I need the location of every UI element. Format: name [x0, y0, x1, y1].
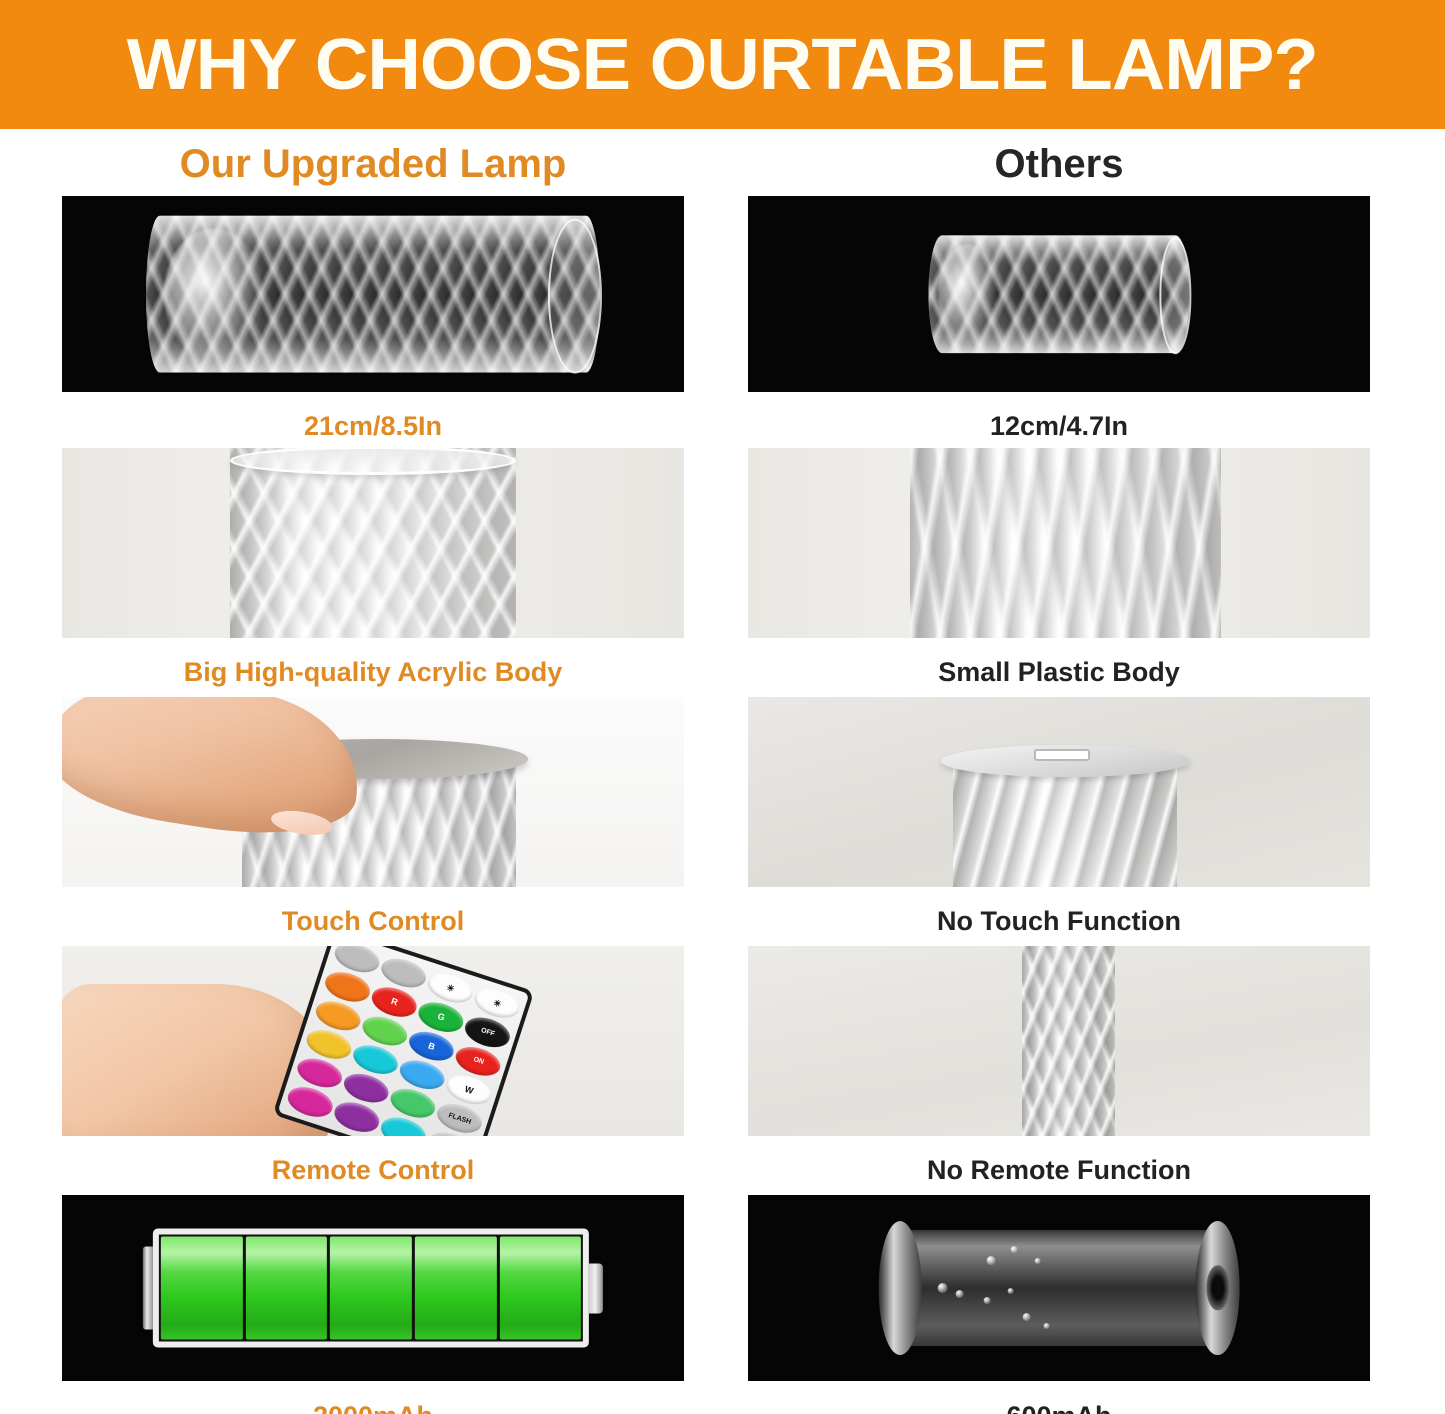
remote-button-red: R — [369, 982, 421, 1021]
image-plastic-body — [748, 448, 1370, 638]
small-battery-icon — [879, 1221, 1240, 1355]
caption-ours-material: Big High-quality Acrylic Body — [62, 638, 684, 686]
caption-others-battery: 600mAh — [748, 1381, 1370, 1414]
caption-ours-battery: 2000mAh — [62, 1381, 684, 1414]
image-full-battery — [62, 1195, 684, 1381]
comparison-grid: 21cm/8.5In 12cm/4.7In Big High-quality A… — [0, 196, 1445, 1414]
caption-ours-touch: Touch Control — [62, 887, 684, 935]
cell-ours-size: 21cm/8.5In — [62, 196, 684, 440]
image-remote-control: ☀ ☀ R G OFF B ON W — [62, 946, 684, 1136]
remote-color-orange — [322, 967, 374, 1006]
remote-color-magenta — [285, 1082, 337, 1121]
cell-others-battery: 600mAh — [748, 1195, 1370, 1414]
comparison-infographic: WHY CHOOSE OURTABLE LAMP? Our Upgraded L… — [0, 0, 1445, 1414]
comparison-row-battery: 2000mAh — [0, 1195, 1445, 1414]
comparison-row-remote: ☀ ☀ R G OFF B ON W — [0, 946, 1445, 1195]
column-heading-ours: Our Upgraded Lamp — [62, 142, 684, 186]
image-no-touch — [748, 697, 1370, 887]
remote-color-violet — [331, 1097, 383, 1136]
cell-others-touch: No Touch Function — [748, 697, 1370, 935]
image-acrylic-body — [62, 448, 684, 638]
cell-ours-battery: 2000mAh — [62, 1195, 684, 1414]
image-touch-control — [62, 697, 684, 887]
caption-others-remote: No Remote Function — [748, 1136, 1370, 1184]
remote-button-green: G — [415, 997, 467, 1036]
image-large-crystal-lamp — [62, 196, 684, 392]
caption-others-touch: No Touch Function — [748, 887, 1370, 935]
comparison-row-size: 21cm/8.5In 12cm/4.7In — [0, 196, 1445, 448]
comparison-row-touch: Touch Control No Touch Function — [0, 697, 1445, 946]
image-small-battery — [748, 1195, 1370, 1381]
cell-others-material: Small Plastic Body — [748, 448, 1370, 686]
caption-others-material: Small Plastic Body — [748, 638, 1370, 686]
caption-others-size: 12cm/4.7In — [748, 392, 1370, 440]
header-banner: WHY CHOOSE OURTABLE LAMP? — [0, 0, 1445, 129]
battery-icon — [143, 1228, 603, 1347]
caption-ours-remote: Remote Control — [62, 1136, 684, 1184]
image-small-crystal-lamp — [748, 196, 1370, 392]
cell-ours-remote: ☀ ☀ R G OFF B ON W — [62, 946, 684, 1184]
comparison-row-material: Big High-quality Acrylic Body Small Plas… — [0, 448, 1445, 697]
cell-ours-material: Big High-quality Acrylic Body — [62, 448, 684, 686]
image-no-remote — [748, 946, 1370, 1136]
remote-button-off: OFF — [462, 1012, 514, 1051]
column-heading-others: Others — [748, 142, 1370, 186]
cell-others-remote: No Remote Function — [748, 946, 1370, 1184]
page-title: WHY CHOOSE OURTABLE LAMP? — [127, 29, 1318, 101]
caption-ours-size: 21cm/8.5In — [62, 392, 684, 440]
cell-ours-touch: Touch Control — [62, 697, 684, 935]
cell-others-size: 12cm/4.7In — [748, 196, 1370, 440]
rgb-remote: ☀ ☀ R G OFF B ON W — [273, 946, 535, 1136]
